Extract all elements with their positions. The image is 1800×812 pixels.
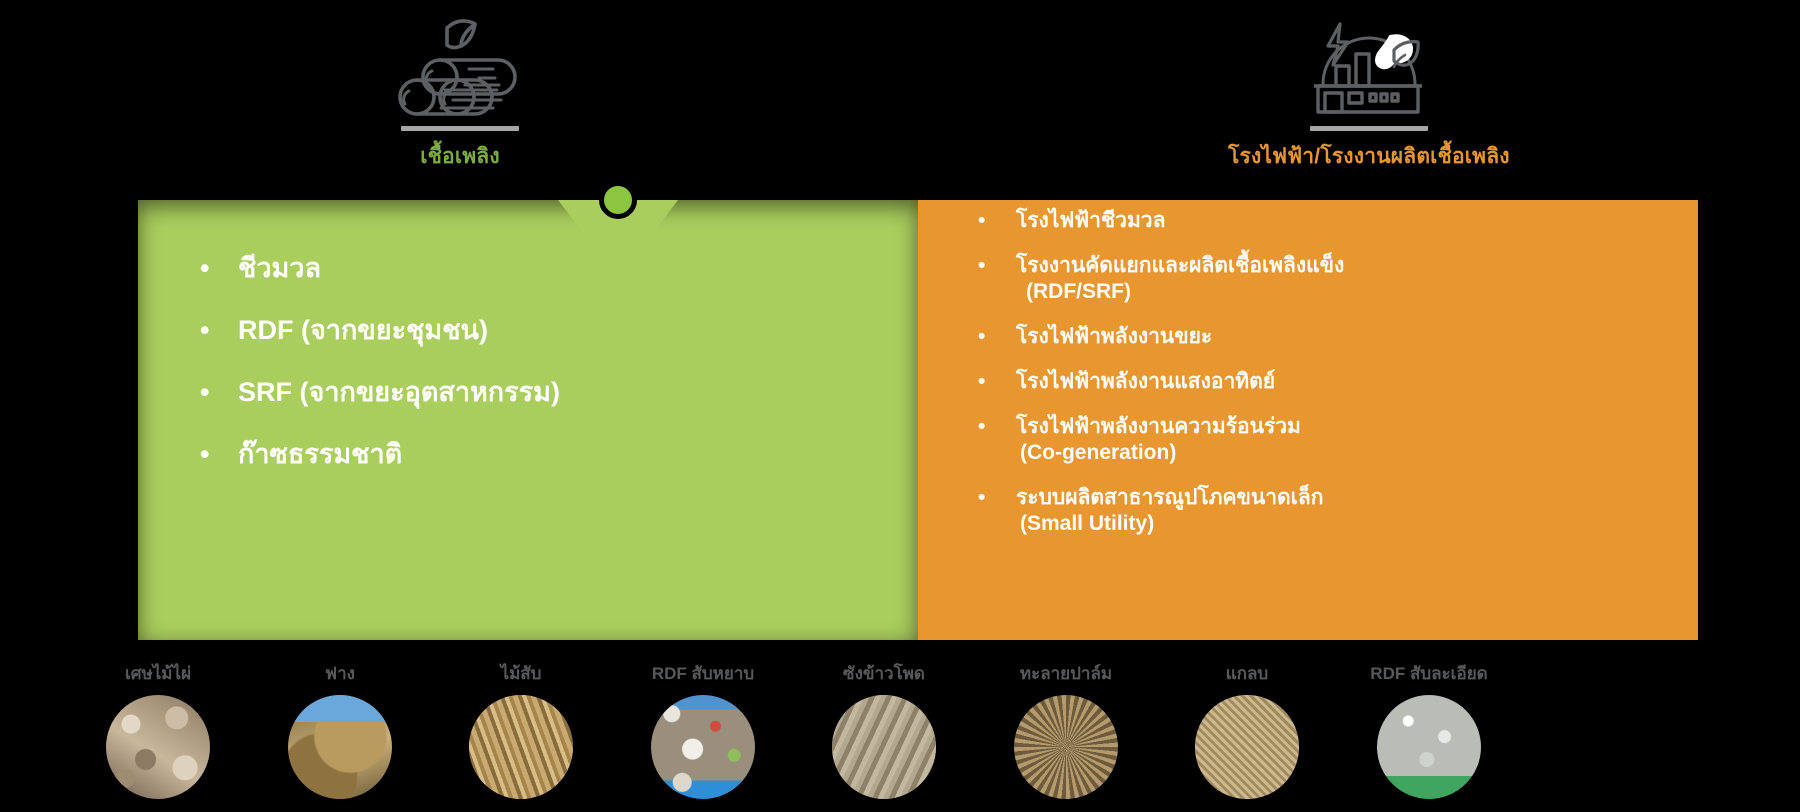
- bullet-icon: •: [978, 324, 985, 350]
- thumbnail-caption: RDF สับละเอียด: [1370, 660, 1487, 687]
- list-item-label: ก๊าซธรรมชาติ: [238, 439, 402, 469]
- thumbnail-image-rdf-coarse: [651, 695, 755, 799]
- thumbnail-corn-cob[interactable]: ซังข้าวโพด: [804, 660, 964, 799]
- bullet-icon: •: [978, 485, 985, 511]
- texture: [1377, 695, 1481, 799]
- header-fuel-label: เชื้อเพลิง: [420, 140, 500, 173]
- thumbnail-rice-husk[interactable]: แกลบ: [1167, 660, 1327, 799]
- list-item-label: โรงไฟฟ้าพลังงานความร้อนร่วม: [1016, 415, 1301, 438]
- bullet-icon: •: [200, 438, 209, 470]
- list-item: • ชีวมวล: [200, 252, 560, 284]
- texture: [1014, 695, 1118, 799]
- header-plant-label: โรงไฟฟ้า/โรงงานผลิตเชื้อเพลิง: [1228, 140, 1510, 173]
- list-item-label: RDF (จากขยะชุมชน): [238, 315, 488, 345]
- list-item-sublabel: (Co-generation): [1016, 440, 1344, 466]
- list-item: • RDF (จากขยะชุมชน): [200, 314, 560, 346]
- infographic-canvas: เชื้อเพลิง: [0, 0, 1800, 812]
- header-rule: [1310, 126, 1428, 131]
- list-item: • SRF (จากขยะอุตสาหกรรม): [200, 376, 560, 408]
- list-item: • โรงไฟฟ้าพลังงานแสงอาทิตย์: [978, 369, 1344, 395]
- bullet-icon: •: [200, 314, 209, 346]
- list-item-label: โรงไฟฟ้าชีวมวล: [1016, 209, 1165, 232]
- list-item-label: โรงไฟฟ้าพลังงานแสงอาทิตย์: [1016, 370, 1275, 393]
- list-item-sublabel: (RDF/SRF): [1016, 279, 1344, 305]
- list-item-label: ชีวมวล: [238, 253, 321, 283]
- thumbnail-palm-bunch[interactable]: ทะลายปาล์ม: [986, 660, 1146, 799]
- list-item: • ก๊าซธรรมชาติ: [200, 438, 560, 470]
- fuel-bullet-list: • ชีวมวล • RDF (จากขยะชุมชน) • SRF (จากข…: [200, 252, 560, 500]
- bullet-icon: •: [200, 376, 209, 408]
- thumbnail-caption: ซังข้าวโพด: [843, 660, 925, 687]
- thumbnail-image-rdf-fine: [1377, 695, 1481, 799]
- list-item-label: ระบบผลิตสาธารณูปโภคขนาดเล็ก: [1016, 486, 1323, 509]
- thumbnail-image-bamboo-scrap: [106, 695, 210, 799]
- texture: [651, 695, 755, 799]
- thumbnail-caption: เศษไม้ไผ่: [125, 660, 191, 687]
- texture: [288, 695, 392, 799]
- list-item: • โรงไฟฟ้าชีวมวล: [978, 208, 1344, 234]
- thumbnail-image-corn-cob: [832, 695, 936, 799]
- texture: [106, 695, 210, 799]
- plant-bullet-list: • โรงไฟฟ้าชีวมวล • โรงงานคัดแยกและผลิตเช…: [978, 208, 1344, 556]
- list-item: • โรงงานคัดแยกและผลิตเชื้อเพลิงแข็ง (RDF…: [978, 253, 1344, 305]
- thumbnail-image-rice-husk: [1195, 695, 1299, 799]
- thumbnail-rdf-coarse[interactable]: RDF สับหยาบ: [623, 660, 783, 799]
- power-plant-leaf-icon: [1294, 8, 1444, 120]
- thumbnail-caption: ไม้สับ: [501, 660, 542, 687]
- bullet-icon: •: [978, 414, 985, 440]
- list-item: • โรงไฟฟ้าพลังงานความร้อนร่วม (Co-genera…: [978, 414, 1344, 466]
- connector-dot-icon: [599, 181, 637, 219]
- panel-fuel: • ชีวมวล • RDF (จากขยะชุมชน) • SRF (จากข…: [138, 200, 918, 640]
- panel-fuel-connector: [558, 200, 678, 246]
- thumbnail-caption: ทะลายปาล์ม: [1020, 660, 1112, 687]
- thumbnail-wood-chips[interactable]: ไม้สับ: [441, 660, 601, 799]
- list-item: • โรงไฟฟ้าพลังงานขยะ: [978, 324, 1344, 350]
- thumbnail-rdf-fine[interactable]: RDF สับละเอียด: [1349, 660, 1509, 799]
- bullet-icon: •: [978, 253, 985, 279]
- bullet-icon: •: [978, 369, 985, 395]
- texture: [1195, 695, 1299, 799]
- list-item-label: โรงงานคัดแยกและผลิตเชื้อเพลิงแข็ง: [1016, 254, 1344, 277]
- list-item-label: SRF (จากขยะอุตสาหกรรม): [238, 377, 560, 407]
- list-item-label: โรงไฟฟ้าพลังงานขยะ: [1016, 325, 1212, 348]
- material-thumbnail-strip: เศษไม้ไผ่ ฟาง ไม้สับ RDF สับหยาบ ซังข้าว: [0, 660, 1800, 810]
- panel-plant: • โรงไฟฟ้าชีวมวล • โรงงานคัดแยกและผลิตเช…: [918, 200, 1698, 640]
- bullet-icon: •: [978, 208, 985, 234]
- thumbnail-caption: RDF สับหยาบ: [652, 660, 754, 687]
- texture: [469, 695, 573, 799]
- texture: [832, 695, 936, 799]
- header-fuel: เชื้อเพลิง: [385, 8, 535, 173]
- bullet-icon: •: [200, 252, 209, 284]
- thumbnail-image-wood-chips: [469, 695, 573, 799]
- thumbnail-image-palm-bunch: [1014, 695, 1118, 799]
- thumbnail-bamboo-scrap[interactable]: เศษไม้ไผ่: [78, 660, 238, 799]
- thumbnail-caption: แกลบ: [1226, 660, 1268, 687]
- thumbnail-straw[interactable]: ฟาง: [260, 660, 420, 799]
- list-item: • ระบบผลิตสาธารณูปโภคขนาดเล็ก (Small Uti…: [978, 485, 1344, 537]
- thumbnail-image-straw: [288, 695, 392, 799]
- header-rule: [401, 126, 519, 131]
- list-item-sublabel: (Small Utility): [1016, 511, 1344, 537]
- log-pile-leaf-icon: [385, 8, 535, 120]
- header-plant: โรงไฟฟ้า/โรงงานผลิตเชื้อเพลิง: [1228, 8, 1510, 173]
- thumbnail-caption: ฟาง: [325, 660, 355, 687]
